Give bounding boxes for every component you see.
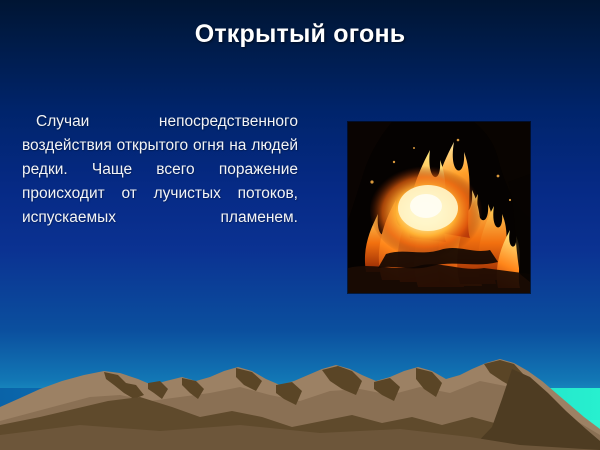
slide-title: Открытый огонь [0,20,600,49]
slide-body-text: Случаи непосредственного воздействия отк… [22,110,298,254]
fire-photo-image [348,122,530,293]
mountain-range-graphic [0,355,600,450]
presentation-slide: Открытый огонь Случаи непосредственного … [0,0,600,450]
fire-photo [348,122,530,293]
